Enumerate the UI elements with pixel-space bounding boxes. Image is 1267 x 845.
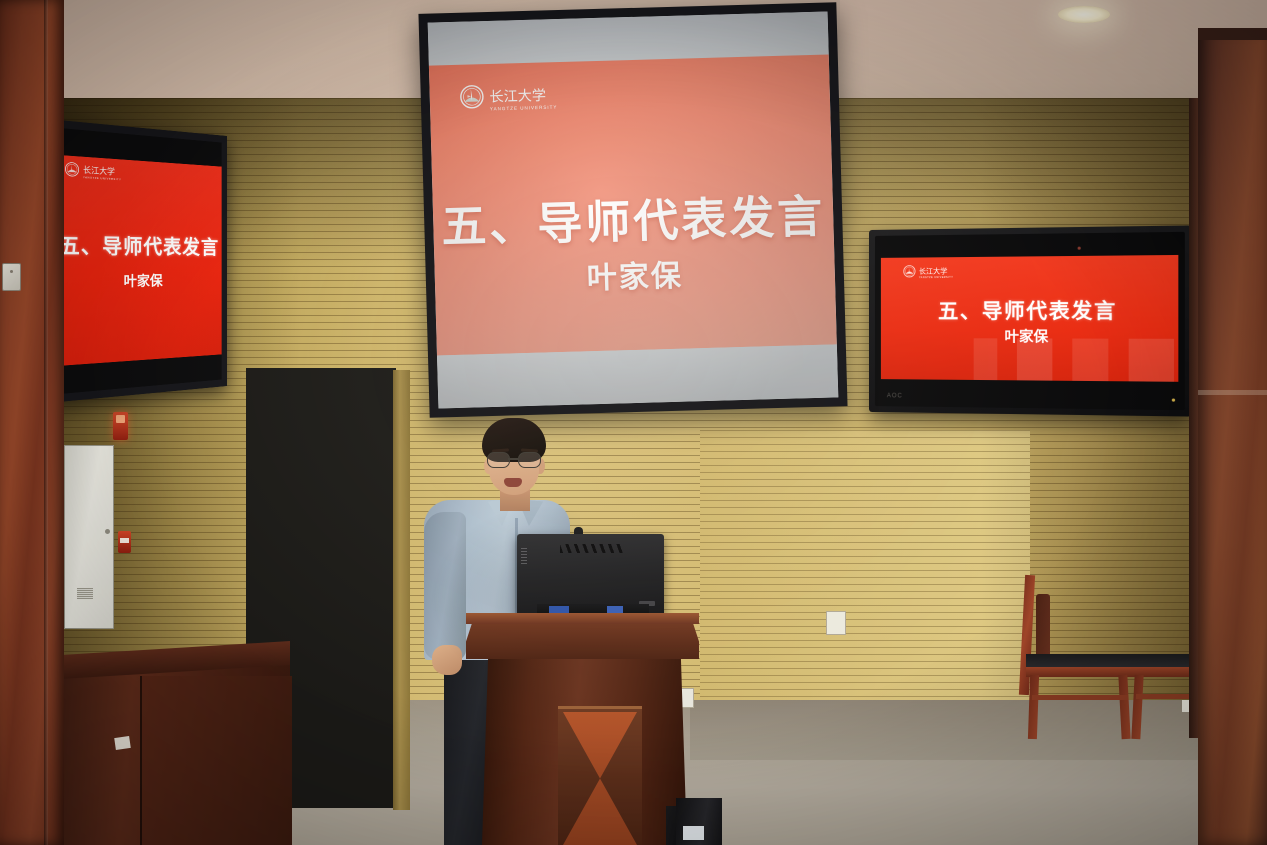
svg-text:长江大学: 长江大学 <box>83 164 115 177</box>
university-logo-icon: 长江大学 YANGTZE UNIVERSITY <box>457 82 578 115</box>
speaker-left-arm <box>424 512 466 660</box>
svg-text:YANGTZE UNIVERSITY: YANGTZE UNIVERSITY <box>83 176 121 181</box>
left-wood-column <box>0 0 64 845</box>
left-display-slide: 长江大学 YANGTZE UNIVERSITY 五、导师代表发言 叶家保 <box>55 155 221 366</box>
slide-subtitle: 叶家保 <box>434 246 835 301</box>
panel-latch-icon <box>105 529 110 534</box>
left-display-screen: 长江大学 YANGTZE UNIVERSITY 五、导师代表发言 叶家保 <box>55 128 221 395</box>
speaker-hand <box>432 645 462 675</box>
left-display-subtitle: 叶家保 <box>55 269 221 291</box>
ceiling-downlight-icon <box>1058 6 1110 23</box>
podium-front-lip <box>466 613 699 624</box>
right-column-cap <box>1198 28 1267 40</box>
tv-slide: 长江大学 YANGTZE UNIVERSITY 五、导师代表发言 叶家保 <box>881 255 1178 382</box>
tv-title: 五、导师代表发言 <box>881 294 1178 324</box>
monitor-vent-grille <box>560 544 624 553</box>
svg-text:YANGTZE UNIVERSITY: YANGTZE UNIVERSITY <box>490 105 558 112</box>
svg-text:长江大学: 长江大学 <box>489 88 546 106</box>
counter-label-tag <box>114 736 131 750</box>
floor-far-plane <box>690 700 1267 760</box>
light-switch[interactable] <box>2 263 21 291</box>
screen-letterbox-bottom <box>437 344 838 408</box>
back-wall-recess <box>700 430 1030 730</box>
tv-bezel: 长江大学 YANGTZE UNIVERSITY 五、导师代表发言 叶家保 AOC <box>875 232 1185 410</box>
chair-stretcher <box>1032 695 1128 700</box>
eyeglasses-icon <box>487 452 542 466</box>
right-column-seam <box>1198 390 1267 395</box>
lecture-hall-photo: 长江大学 YANGTZE UNIVERSITY 五、导师代表发言 叶家保 <box>0 0 1267 845</box>
eyeglass-bridge <box>508 458 518 460</box>
tv-brand-label: AOC <box>887 393 903 399</box>
projection-screen-assembly: 长江大学 YANGTZE UNIVERSITY 五、导师代表发言 叶家保 <box>418 2 847 418</box>
svg-text:长江大学: 长江大学 <box>919 266 948 275</box>
wall-post <box>393 370 410 810</box>
right-wall-lcd-tv: 长江大学 YANGTZE UNIVERSITY 五、导师代表发言 叶家保 AOC <box>869 225 1191 416</box>
tv-power-led-icon <box>1172 398 1175 401</box>
wall-outlet <box>826 611 846 635</box>
fire-alarm-pull-station-icon <box>118 531 131 553</box>
panel-vent-grille <box>77 588 93 599</box>
projected-slide: 长江大学 YANGTZE UNIVERSITY 五、导师代表发言 叶家保 <box>429 54 837 355</box>
wood-counter-front-panel <box>140 676 292 845</box>
left-display-title: 五、导师代表发言 <box>55 229 221 260</box>
right-wood-column <box>1198 28 1267 845</box>
university-logo-icon: 长江大学 YANGTZE UNIVERSITY <box>64 161 134 184</box>
equipment-box-label <box>683 826 704 840</box>
electrical-panel-box <box>64 445 114 629</box>
speaker-mouth <box>504 478 522 487</box>
eyeglass-lens-left <box>487 452 510 468</box>
eyeglass-lens-right <box>518 452 541 468</box>
slide-title: 五、导师代表发言 <box>432 179 834 255</box>
university-logo-icon: 长江大学 YANGTZE UNIVERSITY <box>899 264 970 281</box>
projection-screen-surface: 长江大学 YANGTZE UNIVERSITY 五、导师代表发言 叶家保 <box>428 11 839 408</box>
tv-sensor-icon <box>1078 247 1081 250</box>
tv-reflection <box>974 338 1174 382</box>
fire-alarm-strobe-icon <box>113 412 128 440</box>
column-groove <box>44 0 48 845</box>
left-wall-led-display: 长江大学 YANGTZE UNIVERSITY 五、导师代表发言 叶家保 <box>49 119 227 403</box>
svg-text:YANGTZE UNIVERSITY: YANGTZE UNIVERSITY <box>919 276 953 279</box>
monitor-brand-logo-icon <box>521 548 527 566</box>
